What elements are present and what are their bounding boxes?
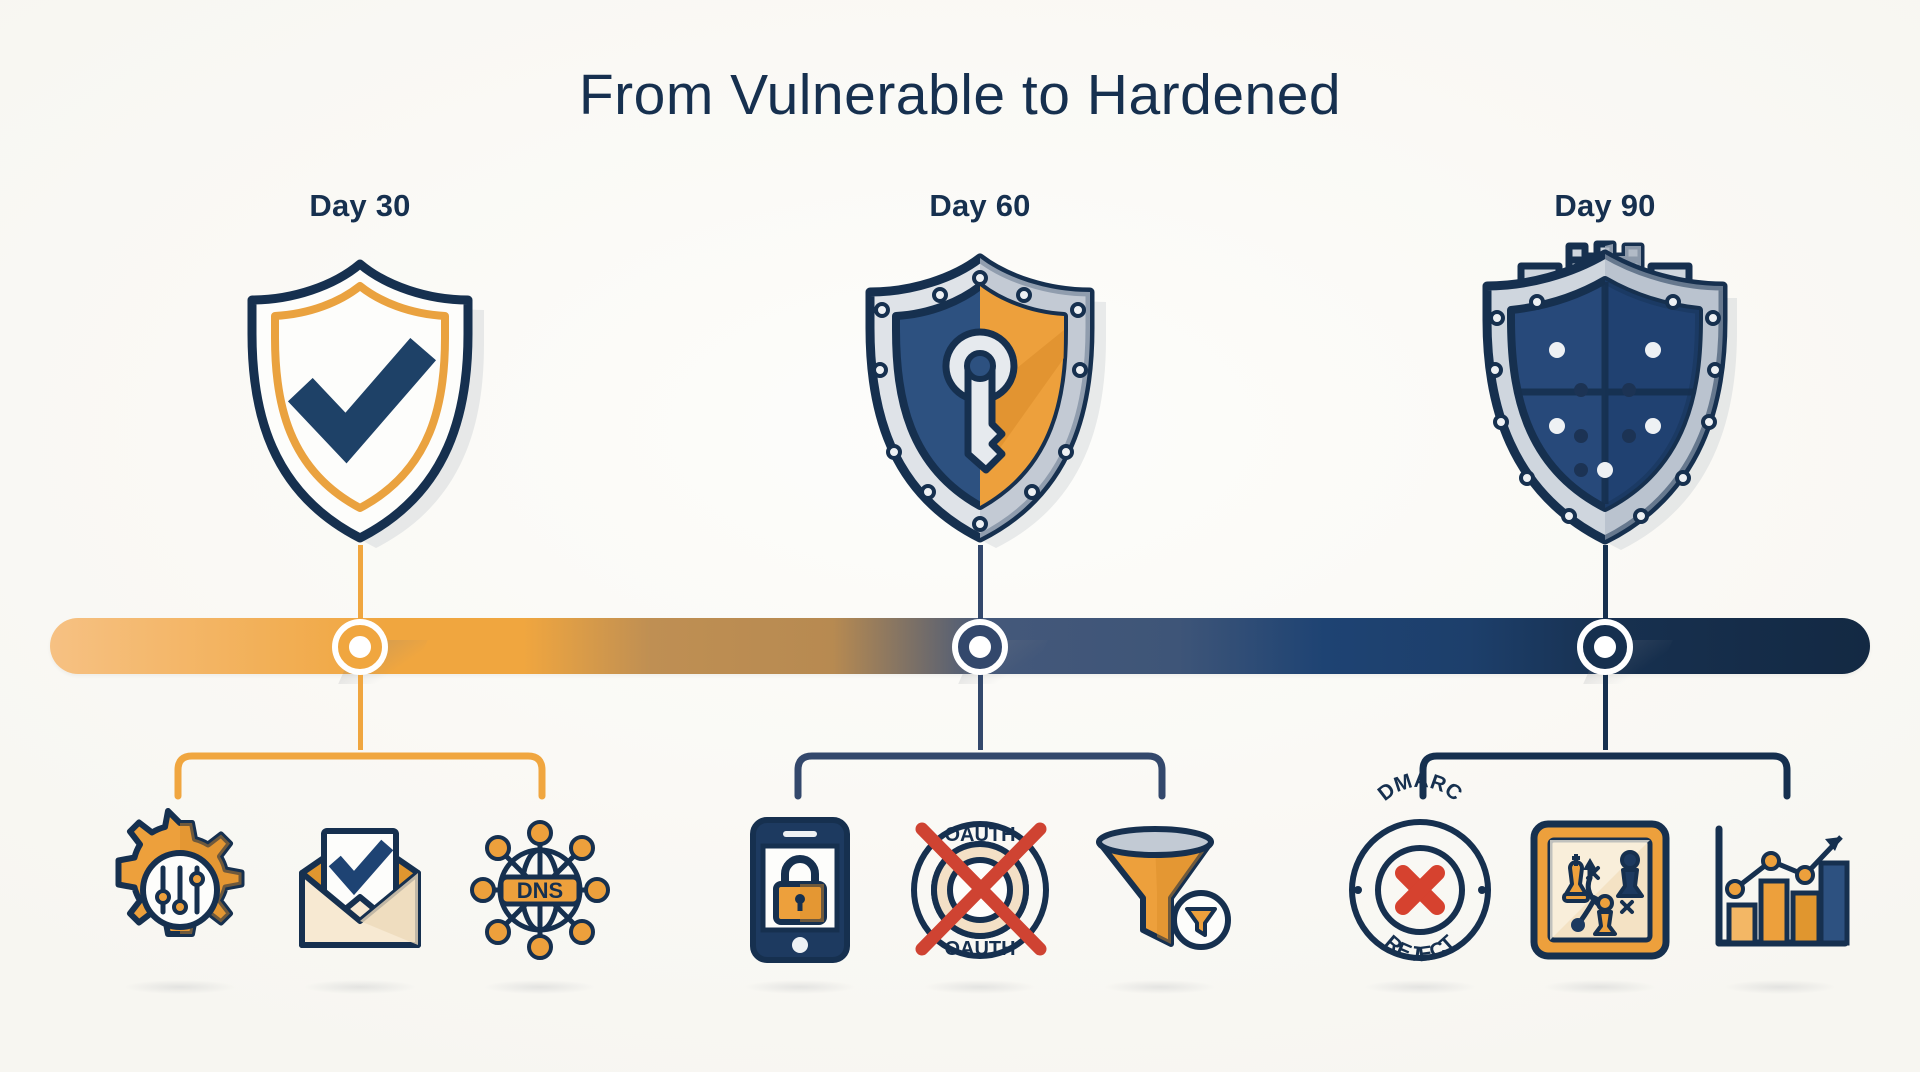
icon-shadow [745, 980, 855, 994]
infographic-canvas: From Vulnerable to Hardened Day 30 Day 6… [0, 0, 1920, 1072]
milestone-label-day-30: Day 30 [210, 188, 510, 224]
milestone-label-day-60: Day 60 [830, 188, 1130, 224]
stem-up-day-90 [1603, 545, 1608, 623]
icon-group-day-90: DMARC REJECT [1330, 800, 1870, 980]
shield-key-icon [850, 248, 1110, 548]
stem-up-day-30 [358, 545, 363, 623]
gear-settings-icon[interactable] [90, 800, 270, 980]
icon-shadow [1105, 980, 1215, 994]
timeline-node-day-60[interactable] [952, 619, 1008, 675]
icon-shadow [1545, 980, 1655, 994]
chess-strategy-board-icon[interactable] [1510, 800, 1690, 980]
shield-armored-icon [1465, 240, 1745, 550]
stem-down-day-60 [978, 670, 983, 750]
stem-up-day-60 [978, 545, 983, 623]
milestone-label-day-90: Day 90 [1455, 188, 1755, 224]
stem-down-day-30 [358, 670, 363, 750]
dns-label: DNS [517, 878, 563, 903]
dns-network-icon[interactable]: DNS [450, 800, 630, 980]
icon-shadow [125, 980, 235, 994]
timeline-node-day-30[interactable] [332, 619, 388, 675]
shield-check-icon [230, 250, 490, 550]
svg-text:REJECT: REJECT [1380, 931, 1460, 967]
oauth-label-top: OAUTH [944, 824, 1015, 846]
reject-label: REJECT [1380, 931, 1460, 967]
funnel-filter-icon[interactable] [1070, 800, 1250, 980]
oauth-label-bottom: OAUTH [944, 938, 1015, 960]
icon-shadow [305, 980, 415, 994]
icon-group-day-60: OAUTH OAUTH [710, 800, 1250, 980]
growth-chart-icon[interactable] [1690, 800, 1870, 980]
icon-shadow [1365, 980, 1475, 994]
bracket-day-60 [790, 748, 1170, 800]
icon-group-day-30: DNS [90, 800, 630, 980]
phone-lock-mfa-icon[interactable] [710, 800, 890, 980]
bracket-day-30 [170, 748, 550, 800]
oauth-disabled-icon[interactable]: OAUTH OAUTH [890, 800, 1070, 980]
dmarc-reject-badge-icon[interactable]: DMARC REJECT [1330, 800, 1510, 980]
icon-shadow [925, 980, 1035, 994]
icon-shadow [485, 980, 595, 994]
timeline-node-day-90[interactable] [1577, 619, 1633, 675]
icon-shadow [1725, 980, 1835, 994]
envelope-check-icon[interactable] [270, 800, 450, 980]
stem-down-day-90 [1603, 670, 1608, 750]
bracket-day-90 [1415, 748, 1795, 800]
page-title: From Vulnerable to Hardened [0, 62, 1920, 128]
